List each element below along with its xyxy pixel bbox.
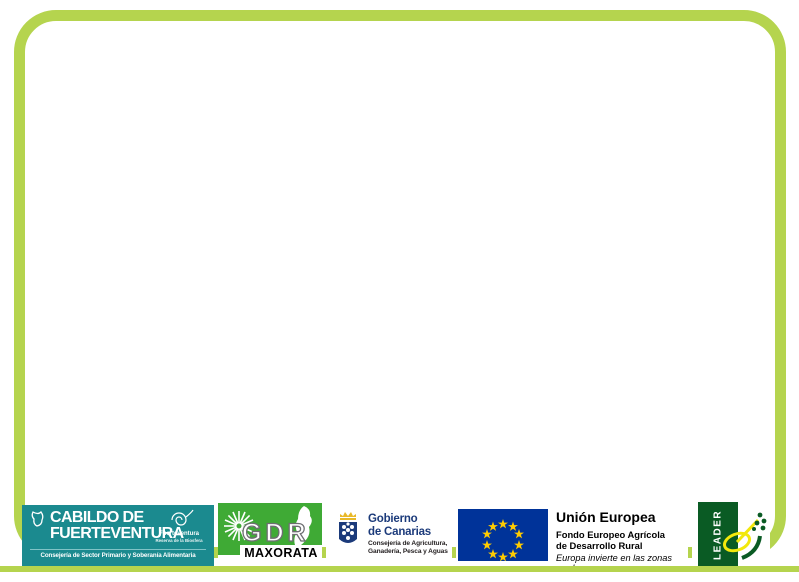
logo-union-europea: Unión Europea Fondo Europeo Agrícola de … xyxy=(456,503,688,569)
divider xyxy=(30,549,206,550)
eu-flag xyxy=(458,509,548,561)
eu-fund-line1: Fondo Europeo Agrícola xyxy=(556,529,665,540)
eu-fund-line2: de Desarrollo Rural xyxy=(556,540,665,551)
cabildo-biosphere-mark: Fuerteventura Reserva de la Biosfera xyxy=(150,531,208,544)
gobierno-name: Gobierno de Canarias xyxy=(368,513,431,538)
goat-icon xyxy=(30,510,46,528)
footer-accent-strip xyxy=(0,566,799,572)
logo-cabildo-fuerteventura: CABILDO DE FUERTEVENTURA Fuerteventura R… xyxy=(22,505,214,567)
gdr-name: MAXORATA xyxy=(240,545,322,562)
gobierno-department: Consejería de Agricultura, Ganadería, Pe… xyxy=(368,540,448,556)
logo-gobierno-de-canarias: Gobierno de Canarias Consejería de Agric… xyxy=(326,503,452,569)
poster-border-frame xyxy=(14,10,786,558)
canarias-crest-icon xyxy=(334,509,362,553)
logo-gdr-maxorata: GDR MAXORATA xyxy=(218,503,322,569)
eu-stars-icon xyxy=(458,509,548,561)
cabildo-line1: CABILDO DE xyxy=(50,510,184,526)
poster-root: PROGRAMA FORMATIVO 2024 ASOCIACIÓN PARA … xyxy=(0,0,799,582)
gobierno-sub2: Ganadería, Pesca y Aguas xyxy=(368,548,448,556)
gobierno-line2: de Canarias xyxy=(368,526,431,539)
leader-leaf-icon xyxy=(720,502,768,568)
gdr-acronym: GDR xyxy=(242,519,310,548)
eu-title: Unión Europea xyxy=(556,509,656,525)
logo-leader: LEADER xyxy=(692,500,770,570)
eu-fund-name: Fondo Europeo Agrícola de Desarrollo Rur… xyxy=(556,529,665,551)
biosphere-sub: Reserva de la Biosfera xyxy=(150,538,208,545)
gobierno-sub1: Consejería de Agricultura, xyxy=(368,540,448,548)
gobierno-line1: Gobierno xyxy=(368,513,431,526)
cabildo-department: Consejería de Sector Primario y Soberaní… xyxy=(22,552,214,559)
